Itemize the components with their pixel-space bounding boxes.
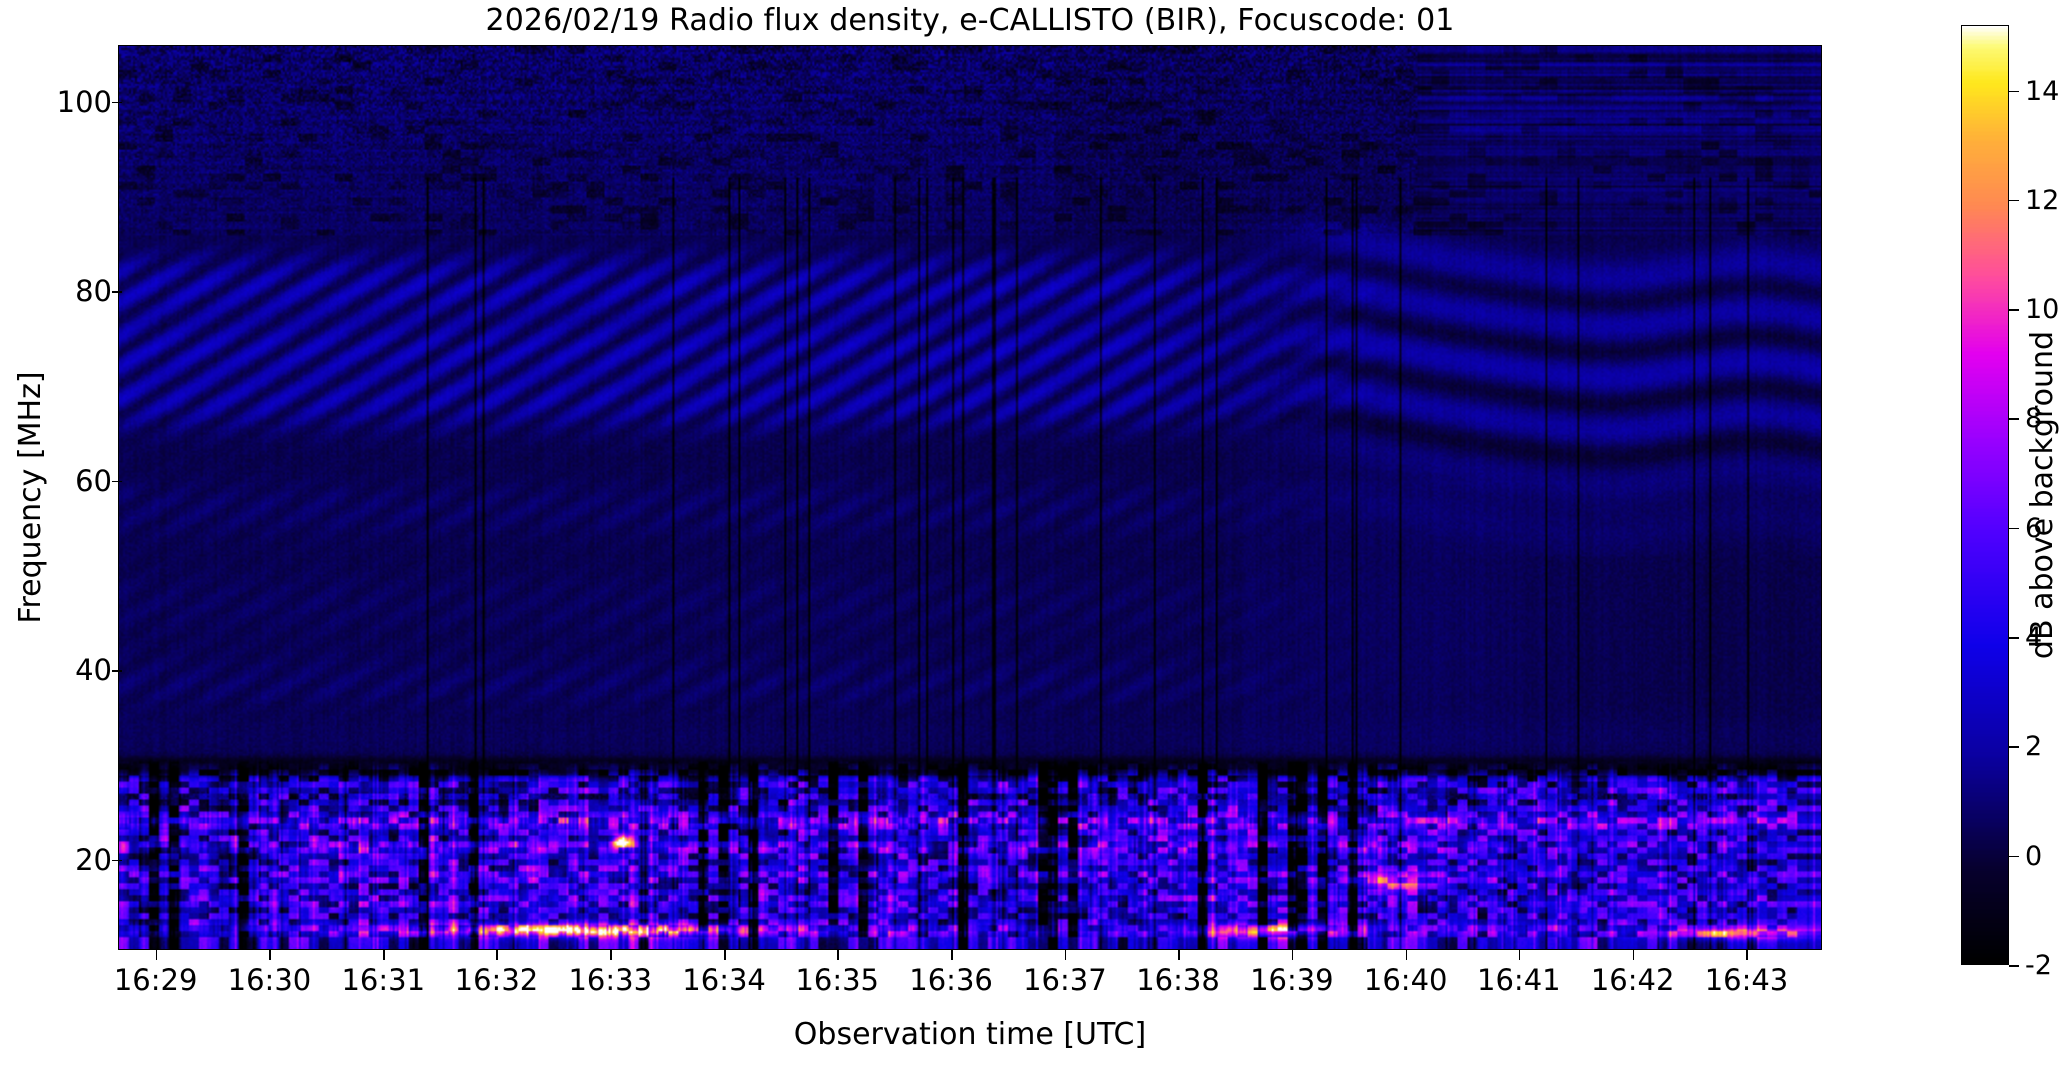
colorbar-tick-mark: [2009, 200, 2019, 202]
x-tick-mark: [610, 950, 612, 960]
x-tick-mark: [156, 950, 158, 960]
colorbar-tick-mark: [2009, 309, 2019, 311]
figure-title: 2026/02/19 Radio flux density, e-CALLIST…: [118, 4, 1822, 38]
x-axis-ticks: 16:2916:3016:3116:3216:3316:3416:3516:36…: [118, 950, 1822, 1010]
x-tick-mark: [837, 950, 839, 960]
x-tick-mark: [383, 950, 385, 960]
x-tick-mark: [1746, 950, 1748, 960]
colorbar-label-wrap: dB above background: [2020, 25, 2066, 965]
colorbar-tick-mark: [2009, 91, 2019, 93]
x-tick-label: 16:43: [1656, 964, 1836, 996]
colorbar-label: dB above background: [2020, 25, 2066, 965]
y-tick-mark: [112, 102, 122, 104]
colorbar-tick-mark: [2009, 965, 2019, 967]
y-axis-label-wrap: Frequency [MHz]: [8, 45, 54, 950]
colorbar-tick-mark: [2009, 637, 2019, 639]
x-tick-mark: [1406, 950, 1408, 960]
y-tick-mark: [112, 860, 122, 862]
colorbar-tick-mark: [2009, 418, 2019, 420]
y-tick-mark: [112, 291, 122, 293]
spectrogram-image: [119, 46, 1821, 949]
x-tick-mark: [1633, 950, 1635, 960]
colorbar-tick-mark: [2009, 746, 2019, 748]
colorbar-gradient: [1962, 26, 2008, 964]
x-tick-mark: [1519, 950, 1521, 960]
y-tick-mark: [112, 481, 122, 483]
x-tick-mark: [724, 950, 726, 960]
x-tick-mark: [496, 950, 498, 960]
x-tick-mark: [1292, 950, 1294, 960]
x-tick-mark: [1065, 950, 1067, 960]
colorbar-tick-mark: [2009, 528, 2019, 530]
x-tick-mark: [269, 950, 271, 960]
x-tick-mark: [951, 950, 953, 960]
y-tick-mark: [112, 670, 122, 672]
colorbar: [1961, 25, 2009, 965]
spectrogram-figure: 2026/02/19 Radio flux density, e-CALLIST…: [0, 0, 2066, 1067]
x-tick-mark: [1178, 950, 1180, 960]
colorbar-tick-mark: [2009, 856, 2019, 858]
x-axis-label: Observation time [UTC]: [118, 1016, 1822, 1054]
spectrogram-plot-area: [118, 45, 1822, 950]
y-axis-label: Frequency [MHz]: [8, 45, 54, 950]
